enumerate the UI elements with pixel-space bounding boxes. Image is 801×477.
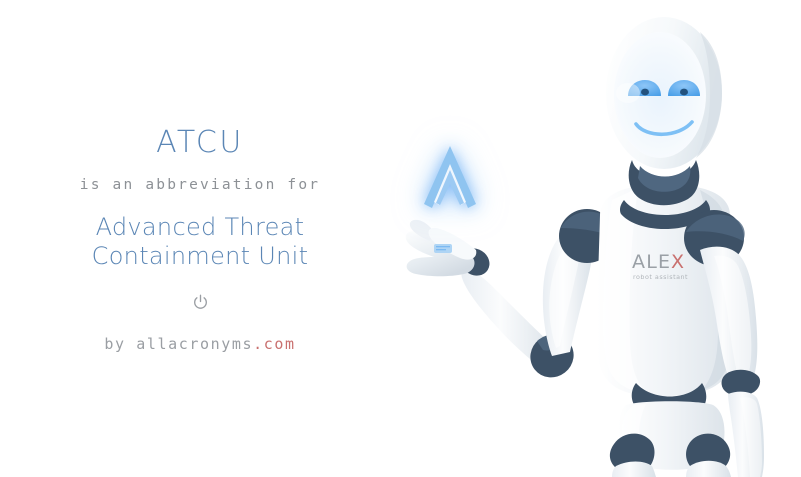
robot-head	[606, 17, 722, 169]
robot-right-arm	[406, 209, 615, 386]
glowing-chevron-icon	[418, 140, 482, 216]
robot-assistant-figure: ALE X robot assistant	[400, 0, 801, 477]
acronym-text-panel: ATCU is an abbreviation for Advanced Thr…	[0, 0, 400, 477]
chest-brand: ALE X robot assistant	[632, 251, 688, 281]
robot-illustration: ALE X robot assistant	[400, 0, 801, 477]
chest-brand-accent: X	[671, 251, 685, 273]
chest-brand-main: ALE	[632, 251, 671, 273]
full-form-text: Advanced Threat Containment Unit	[92, 213, 309, 272]
chest-brand-sub: robot assistant	[633, 273, 688, 281]
acronym-title: ATCU	[156, 128, 244, 158]
byline-dotcom: .com	[253, 335, 296, 353]
full-form-line-1: Advanced Threat	[92, 213, 309, 242]
abbreviation-label: is an abbreviation for	[80, 177, 320, 193]
site-byline[interactable]: by allacronyms.com	[104, 335, 295, 353]
full-form-line-2: Containment Unit	[92, 242, 309, 271]
byline-prefix: by allacronyms	[104, 335, 253, 353]
robot-open-hand	[406, 220, 477, 276]
power-standby-icon[interactable]	[192, 294, 209, 311]
palm-sensor-chip-icon	[434, 244, 452, 253]
page-root: ATCU is an abbreviation for Advanced Thr…	[0, 0, 801, 477]
robot-lower-body	[610, 383, 731, 477]
